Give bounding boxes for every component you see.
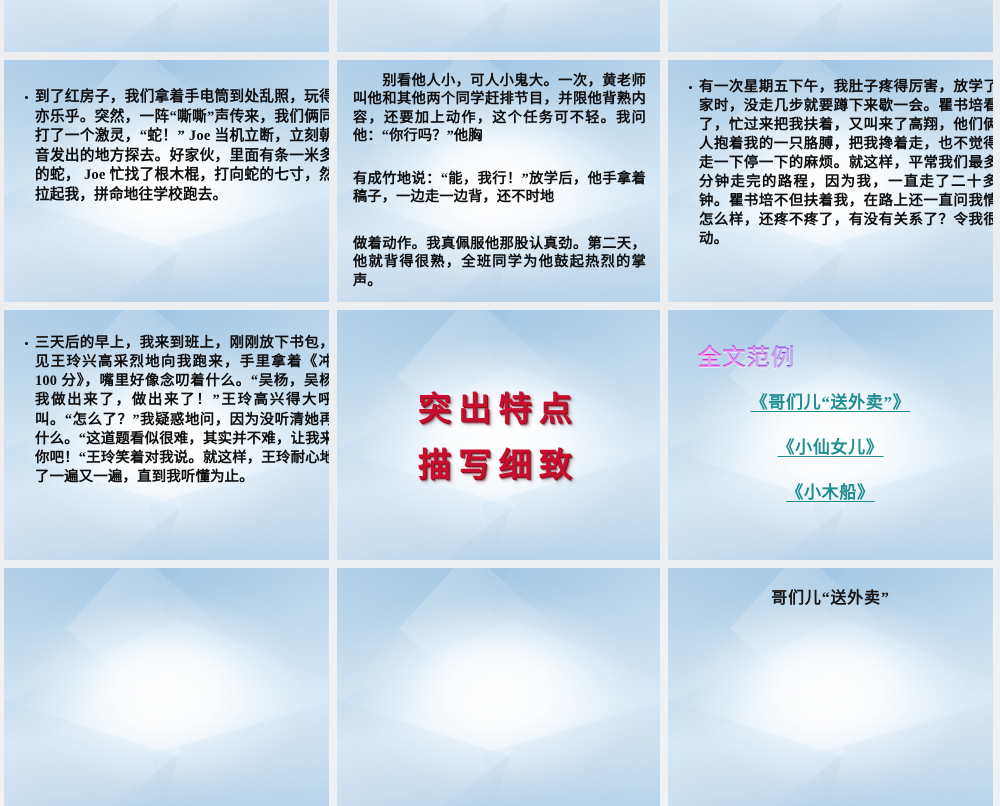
- slide-title-line-2: 描写细致: [337, 438, 660, 486]
- slide-content: [4, 0, 329, 52]
- slide-content: 别看他人小，可人小鬼大。一次，黄老师叫他和其他两个同学赶排节目，并限他背熟内容，…: [337, 60, 660, 302]
- slide-content: [4, 568, 329, 806]
- slide-content: [337, 0, 660, 52]
- slide-body-paragraph-2: 有成竹地说：“能，我行！”放学后，他手拿着稿子，一边走一边背，还不时地: [353, 170, 646, 207]
- slide-heading-full-text-examples: 全文范例: [698, 338, 796, 372]
- slide-thumbnail-red-headline[interactable]: 突出特点 描写细致: [337, 310, 660, 560]
- slide-thumbnail-snake-story[interactable]: 到了红房子，我们拿着手电筒到处乱照，玩得不亦乐乎。突然，一阵“嘶嘶”声传来，我们…: [4, 60, 329, 302]
- example-link-ge-men-er[interactable]: 《哥们儿“送外卖”》: [668, 388, 993, 413]
- slide-thumbnail[interactable]: [668, 0, 993, 52]
- slide-content: 哥们儿“送外卖”: [668, 568, 993, 806]
- slide-content: [668, 0, 993, 52]
- slide-content: 突出特点 描写细致: [337, 310, 660, 560]
- example-link-xiao-xian-nv-er[interactable]: 《小仙女儿》: [668, 433, 993, 458]
- slide-content: 三天后的早上，我来到班上，刚刚放下书包，只见王玲兴高采烈地向我跑来，手里拿着《冲…: [4, 310, 329, 560]
- slide-thumbnail[interactable]: [4, 0, 329, 52]
- slide-thumbnail[interactable]: [4, 568, 329, 806]
- example-link-list: 《哥们儿“送外卖”》 《小仙女儿》 《小木船》: [668, 388, 993, 503]
- slide-content: 到了红房子，我们拿着手电筒到处乱照，玩得不亦乐乎。突然，一阵“嘶嘶”声传来，我们…: [4, 60, 329, 302]
- slide-thumbnail-wanglin-story[interactable]: 三天后的早上，我来到班上，刚刚放下书包，只见王玲兴高采烈地向我跑来，手里拿着《冲…: [4, 310, 329, 560]
- slide-body-text: 到了红房子，我们拿着手电筒到处乱照，玩得不亦乐乎。突然，一阵“嘶嘶”声传来，我们…: [24, 88, 329, 205]
- slide-thumbnail[interactable]: [337, 0, 660, 52]
- slide-body-text: 三天后的早上，我来到班上，刚刚放下书包，只见王玲兴高采烈地向我跑来，手里拿着《冲…: [24, 334, 329, 487]
- slide-content: 有一次星期五下午，我肚子疼得厉害，放学了回家时，没走几步就要蹲下来歇一会。瞿书培…: [668, 60, 993, 302]
- slide-title: 哥们儿“送外卖”: [668, 584, 993, 608]
- slide-body-paragraph-3: 做着动作。我真佩服他那股认真劲。第二天，他就背得很熟，全班同学为他鼓起热烈的掌声…: [353, 235, 646, 290]
- slide-content: [337, 568, 660, 806]
- slide-body-text: 有一次星期五下午，我肚子疼得厉害，放学了回家时，没走几步就要蹲下来歇一会。瞿书培…: [688, 78, 993, 249]
- example-link-xiao-mu-chuan[interactable]: 《小木船》: [668, 478, 993, 503]
- slide-thumbnail-little-big-guy[interactable]: 别看他人小，可人小鬼大。一次，黄老师叫他和其他两个同学赶排节目，并限他背熟内容，…: [337, 60, 660, 302]
- slide-thumbnail-full-text-examples[interactable]: 全文范例 《哥们儿“送外卖”》 《小仙女儿》 《小木船》: [668, 310, 993, 560]
- slide-title-line-1: 突出特点: [337, 382, 660, 430]
- slide-body-paragraph-1: 别看他人小，可人小鬼大。一次，黄老师叫他和其他两个同学赶排节目，并限他背熟内容，…: [353, 72, 646, 146]
- slide-grid-view[interactable]: 到了红房子，我们拿着手电筒到处乱照，玩得不亦乐乎。突然，一阵“嘶嘶”声传来，我们…: [0, 0, 1000, 600]
- slide-content: 全文范例 《哥们儿“送外卖”》 《小仙女儿》 《小木船》: [668, 310, 993, 560]
- slide-thumbnail-friend-helped-me[interactable]: 有一次星期五下午，我肚子疼得厉害，放学了回家时，没走几步就要蹲下来歇一会。瞿书培…: [668, 60, 993, 302]
- slide-thumbnail-footer-title[interactable]: 哥们儿“送外卖”: [668, 568, 993, 806]
- slide-thumbnail[interactable]: [337, 568, 660, 806]
